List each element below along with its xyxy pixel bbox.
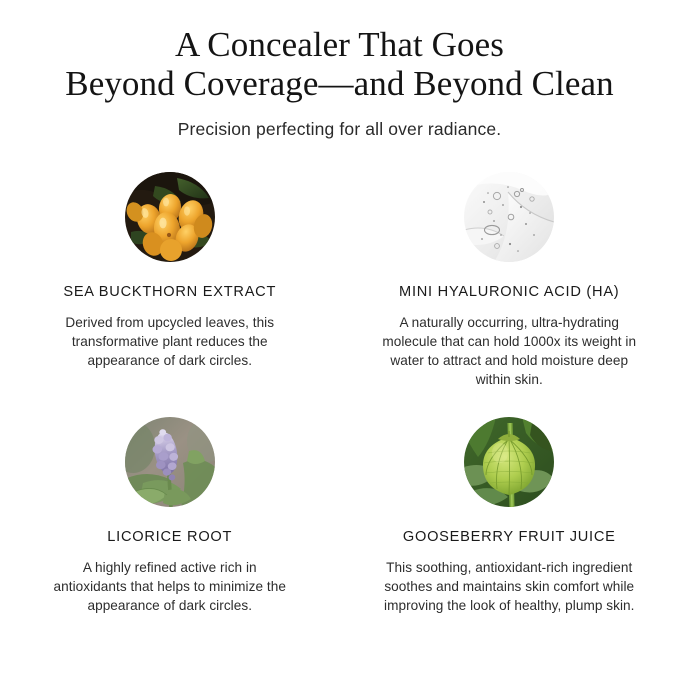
ingredient-grid: SEA BUCKTHORN EXTRACT Derived from upcyc… bbox=[0, 160, 679, 650]
ingredient-name: GOOSEBERRY FRUIT JUICE bbox=[368, 529, 652, 547]
ingredient-card-sea-buckthorn: SEA BUCKTHORN EXTRACT Derived from upcyc… bbox=[0, 160, 340, 405]
ingredient-card-gooseberry: GOOSEBERRY FRUIT JUICE This soothing, an… bbox=[340, 405, 679, 650]
page-header: A Concealer That Goes Beyond Coverage—an… bbox=[0, 0, 679, 140]
ingredient-image-wrap bbox=[464, 417, 554, 507]
ingredient-image-wrap bbox=[464, 172, 554, 262]
ingredient-description: This soothing, antioxidant-rich ingredie… bbox=[382, 558, 637, 616]
ingredient-image-wrap bbox=[125, 172, 215, 262]
licorice-root-image bbox=[125, 417, 215, 507]
ingredient-description: A naturally occurring, ultra-hydrating m… bbox=[382, 313, 637, 390]
page-title-line-2: Beyond Coverage—and Beyond Clean bbox=[40, 64, 640, 103]
ingredient-name: LICORICE ROOT bbox=[28, 529, 312, 547]
page-subtitle: Precision perfecting for all over radian… bbox=[0, 119, 679, 140]
ingredient-description: Derived from upcycled leaves, this trans… bbox=[47, 313, 292, 371]
hyaluronic-acid-image bbox=[464, 172, 554, 262]
gooseberry-image bbox=[464, 417, 554, 507]
ingredient-benefits-page: A Concealer That Goes Beyond Coverage—an… bbox=[0, 0, 679, 679]
ingredient-card-licorice-root: LICORICE ROOT A highly refined active ri… bbox=[0, 405, 340, 650]
ingredient-card-hyaluronic-acid: MINI HYALURONIC ACID (HA) A naturally oc… bbox=[340, 160, 679, 405]
sea-buckthorn-image bbox=[125, 172, 215, 262]
page-title-line-1: A Concealer That Goes bbox=[40, 25, 640, 64]
ingredient-image-wrap bbox=[125, 417, 215, 507]
ingredient-description: A highly refined active rich in antioxid… bbox=[47, 558, 292, 616]
ingredient-name: MINI HYALURONIC ACID (HA) bbox=[368, 284, 652, 302]
page-title: A Concealer That Goes Beyond Coverage—an… bbox=[20, 25, 660, 103]
ingredient-name: SEA BUCKTHORN EXTRACT bbox=[28, 284, 312, 302]
